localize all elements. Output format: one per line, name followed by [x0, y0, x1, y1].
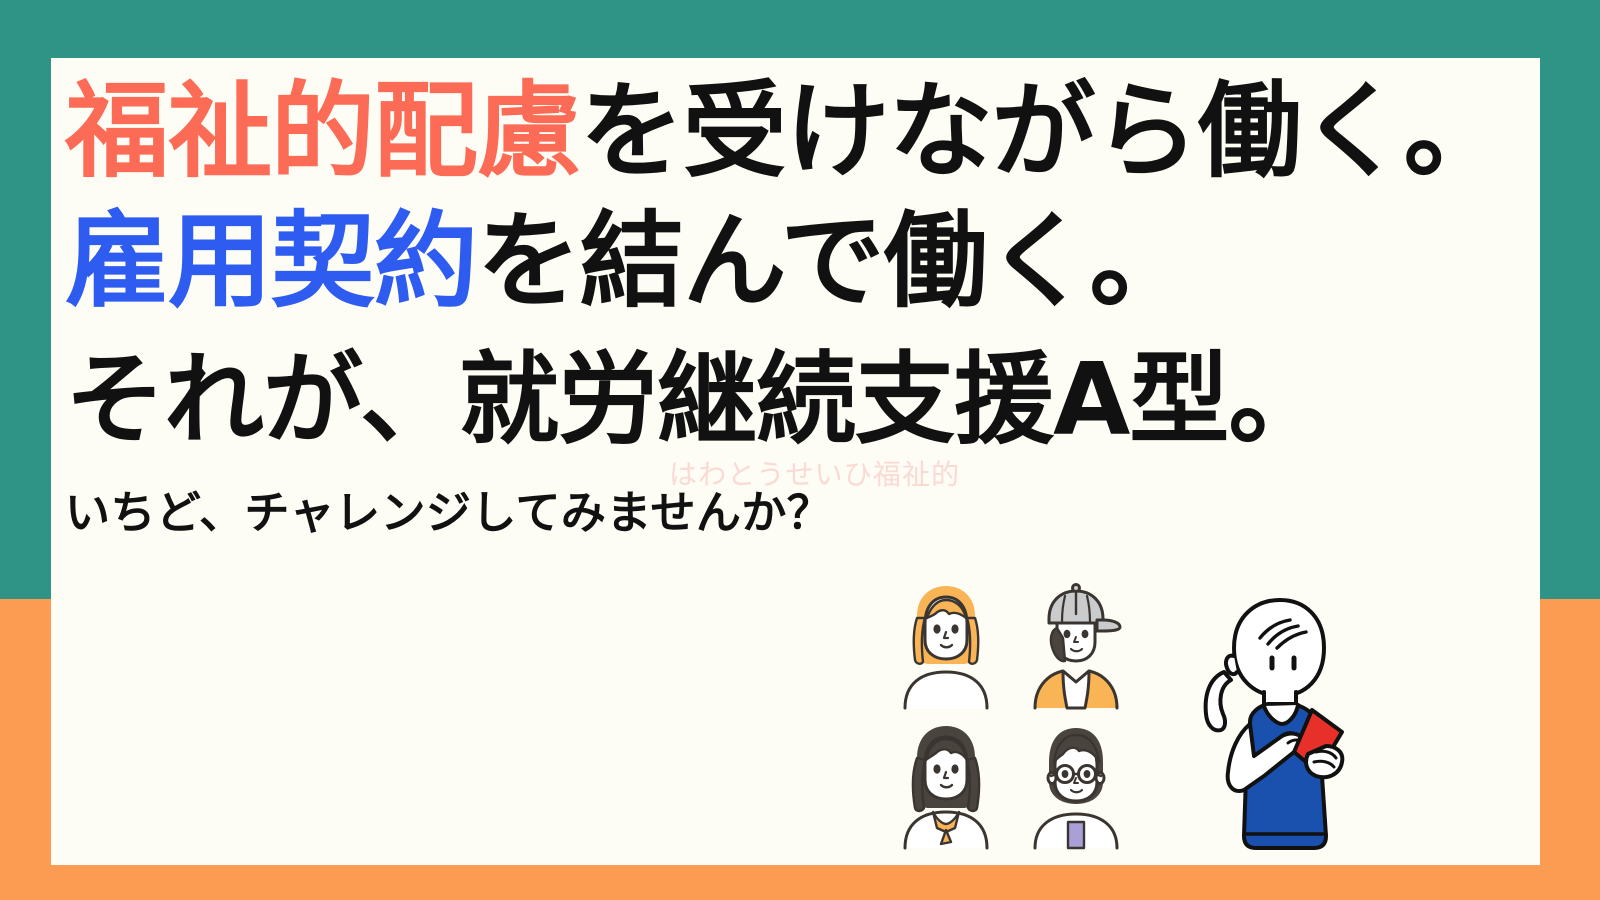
avatar-woman-grey-cap: [1021, 578, 1131, 708]
illustration-woman-with-smartphone: [1176, 586, 1351, 856]
headline-block: 福祉的配慮を受けながら働く。 雇用契約を結んで働く。 それが、就労継続支援A型。: [65, 64, 1525, 458]
poster-canvas: 福祉的配慮を受けながら働く。 雇用契約を結んで働く。 それが、就労継続支援A型。…: [0, 0, 1600, 900]
avatar-woman-dark-hair-scarf: [891, 718, 1001, 848]
avatar-grid: [891, 578, 1141, 858]
avatar-woman-orange-long-hair: [891, 578, 1001, 708]
headline-line-3: それが、就労継続支援A型。: [65, 342, 1525, 458]
headline-keyword-contract: 雇用契約: [65, 200, 477, 322]
headline-line-2-rest: を結んで働く。: [477, 200, 1193, 322]
headline-line-1: 福祉的配慮を受けながら働く。: [65, 72, 1525, 190]
avatar-person-glasses: [1021, 718, 1131, 848]
subtitle-text: いちど、チャレンジしてみませんか？: [65, 484, 832, 542]
content-card: 福祉的配慮を受けながら働く。 雇用契約を結んで働く。 それが、就労継続支援A型。…: [51, 58, 1540, 865]
illustration-area: [51, 578, 1540, 865]
headline-line-1-rest: を受けながら働く。: [580, 70, 1507, 192]
headline-keyword-welfare: 福祉的配慮: [65, 70, 580, 192]
headline-line-2: 雇用契約を結んで働く。: [65, 202, 1525, 320]
